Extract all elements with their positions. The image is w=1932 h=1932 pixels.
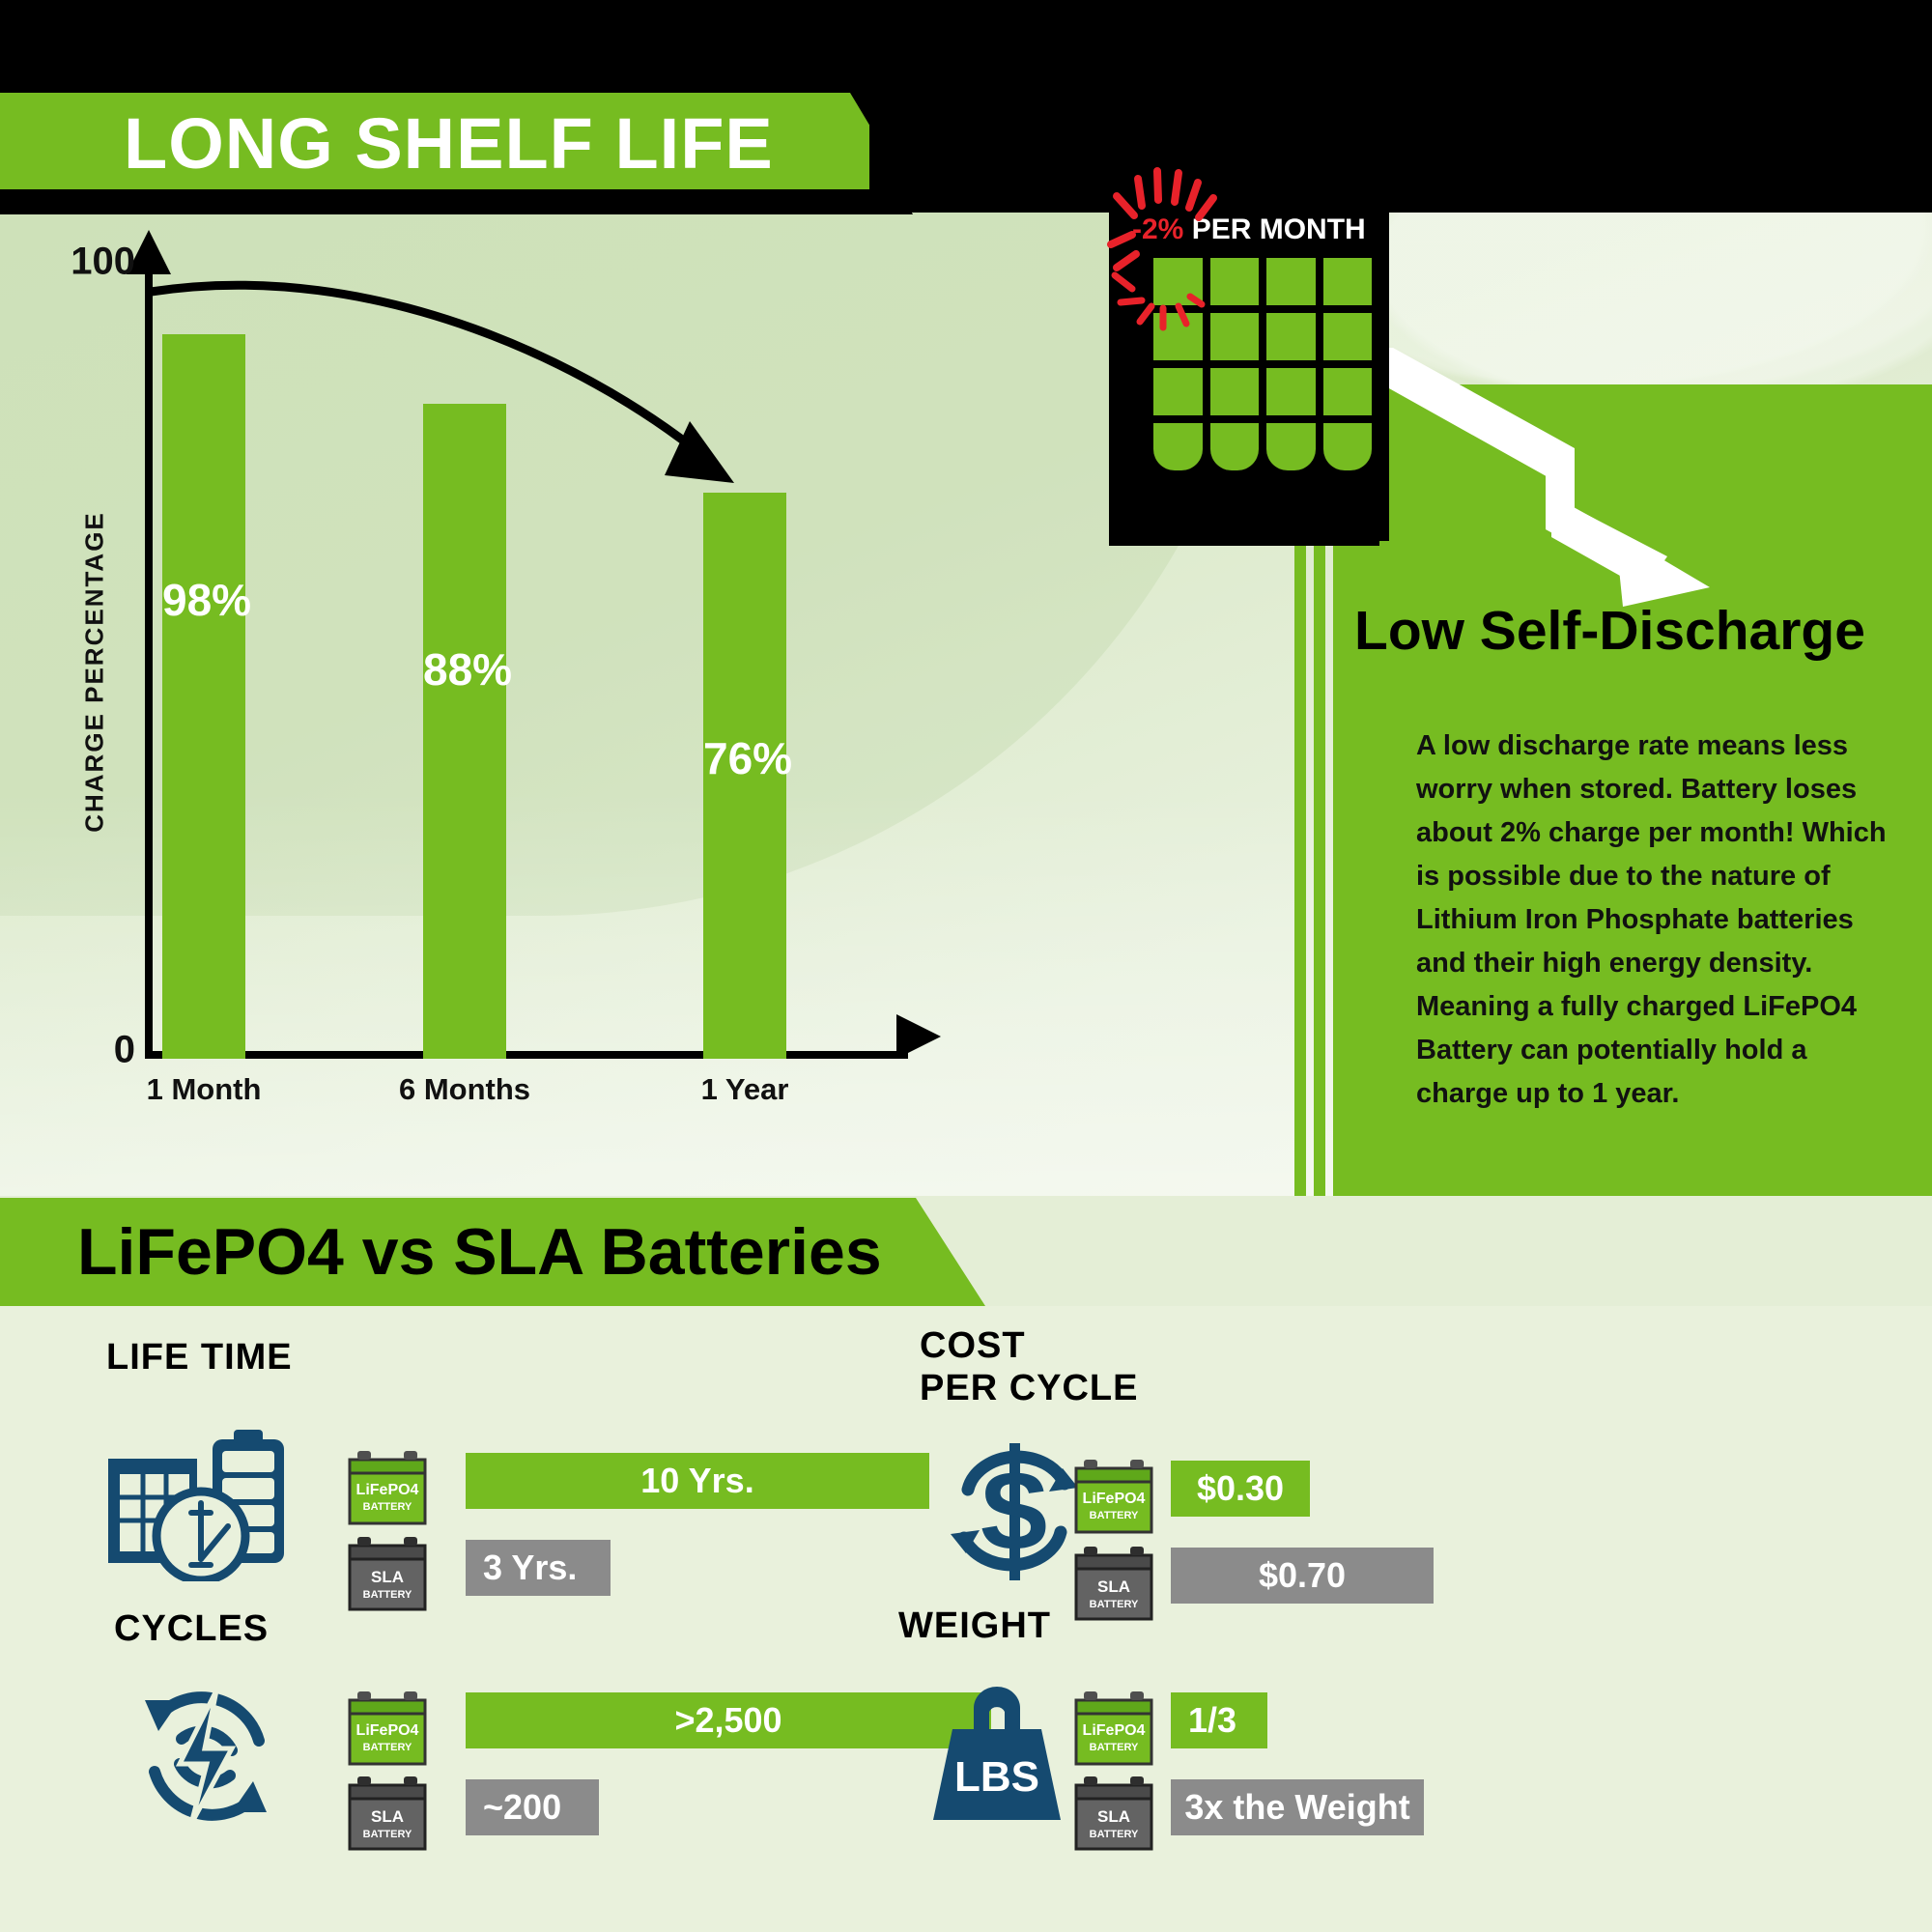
bar-value-1-year: 76% xyxy=(703,732,786,784)
svg-text:LBS: LBS xyxy=(954,1753,1039,1801)
bar-weight-lifepo4: 1/3 xyxy=(1171,1692,1267,1748)
x-tick-6-months: 6 Months xyxy=(373,1072,556,1107)
calendar-clock-battery-icon xyxy=(104,1412,307,1581)
comparison-life-time: LIFE TIME xyxy=(0,1306,966,1615)
header-banner: LONG SHELF LIFE xyxy=(0,93,869,189)
white-descending-arrow-icon xyxy=(1333,348,1816,628)
svg-text:BATTERY: BATTERY xyxy=(1090,1599,1139,1610)
infographic-root: LONG SHELF LIFE 100 0 CHARGE PERCENTAGE … xyxy=(0,0,1932,1932)
x-tick-1-year: 1 Year xyxy=(653,1072,837,1107)
y-axis-title: CHARGE PERCENTAGE xyxy=(80,498,110,846)
bar-life-time-lifepo4: 10 Yrs. xyxy=(466,1453,929,1509)
svg-text:SLA: SLA xyxy=(371,1568,404,1586)
sla-battery-icon: SLA BATTERY xyxy=(1070,1540,1157,1625)
svg-text:BATTERY: BATTERY xyxy=(363,1589,412,1601)
bar-value-6-months: 88% xyxy=(423,643,506,696)
svg-text:SLA: SLA xyxy=(1097,1577,1130,1596)
x-tick-1-month: 1 Month xyxy=(112,1072,296,1107)
y-tick-100: 100 xyxy=(58,241,135,284)
svg-text:BATTERY: BATTERY xyxy=(1090,1510,1139,1521)
lifepo4-battery-icon: LiFePO4 BATTERY xyxy=(1070,1453,1157,1538)
bar-life-time-sla: 3 Yrs. xyxy=(466,1540,611,1596)
panel-body-text: A low discharge rate means less worry wh… xyxy=(1416,724,1899,1115)
y-axis-line xyxy=(145,263,153,1057)
bar-1-year: 76% xyxy=(703,493,786,1059)
bar-6-months: 88% xyxy=(423,404,506,1059)
comparison-section-title: LiFePO4 vs SLA Batteries xyxy=(77,1206,882,1298)
page-title: LONG SHELF LIFE xyxy=(124,99,774,189)
svg-text:LiFePO4: LiFePO4 xyxy=(356,1482,419,1498)
shelf-life-bar-chart: 100 0 CHARGE PERCENTAGE 98% 88% 76% 1 Mo… xyxy=(58,241,1082,1111)
y-tick-0: 0 xyxy=(58,1029,135,1072)
svg-text:LiFePO4: LiFePO4 xyxy=(356,1722,419,1739)
svg-text:BATTERY: BATTERY xyxy=(363,1501,412,1513)
lifepo4-battery-icon: LiFePO4 BATTERY xyxy=(1070,1685,1157,1770)
sla-battery-icon: SLA BATTERY xyxy=(344,1770,431,1855)
svg-text:BATTERY: BATTERY xyxy=(1090,1742,1139,1753)
svg-text:LiFePO4: LiFePO4 xyxy=(1083,1722,1146,1739)
panel-title: Low Self-Discharge xyxy=(1354,599,1932,663)
top-black-bar xyxy=(0,0,1932,93)
comparison-weight: WEIGHT LBS LiFePO4 BATTERY SLA B xyxy=(966,1615,1932,1924)
weight-lbs-icon: LBS xyxy=(908,1673,1092,1842)
svg-text:SLA: SLA xyxy=(1097,1807,1130,1826)
sla-battery-icon: SLA BATTERY xyxy=(1070,1770,1157,1855)
svg-text:BATTERY: BATTERY xyxy=(1090,1829,1139,1840)
bar-cost-lifepo4: $0.30 xyxy=(1171,1461,1310,1517)
svg-text:LiFePO4: LiFePO4 xyxy=(1083,1491,1146,1507)
sla-battery-icon: SLA BATTERY xyxy=(344,1530,431,1615)
comparison-cycles: CYCLES LiFePO4 BATTERY xyxy=(0,1615,966,1924)
svg-text:BATTERY: BATTERY xyxy=(363,1742,412,1753)
comparison-title-cost-per-cycle: COST PER CYCLE xyxy=(920,1325,1138,1409)
lifepo4-battery-icon: LiFePO4 BATTERY xyxy=(344,1444,431,1529)
comparison-cost-per-cycle: COST PER CYCLE S LiFePO4 BATTERY xyxy=(966,1306,1932,1615)
connector-line-right xyxy=(1314,541,1325,1196)
svg-text:BATTERY: BATTERY xyxy=(363,1829,412,1840)
bar-value-1-month: 98% xyxy=(162,574,245,626)
comparison-title-weight: WEIGHT xyxy=(898,1605,1051,1648)
recycle-bolt-icon xyxy=(116,1671,295,1840)
header-black-tail xyxy=(0,189,927,214)
comparison-section: LIFE TIME xyxy=(0,1306,1932,1932)
lifepo4-battery-icon: LiFePO4 BATTERY xyxy=(344,1685,431,1770)
connector-line-left xyxy=(1294,541,1306,1196)
x-axis-line xyxy=(145,1051,908,1059)
svg-text:SLA: SLA xyxy=(371,1807,404,1826)
comparison-section-banner: LiFePO4 vs SLA Batteries xyxy=(0,1198,985,1306)
comparison-title-cycles: CYCLES xyxy=(114,1608,269,1651)
comparison-title-life-time: LIFE TIME xyxy=(106,1337,293,1379)
calendar-discharge-icon: -2% PER MONTH xyxy=(1109,208,1399,546)
x-axis-arrowhead-icon xyxy=(896,1014,941,1059)
bar-cost-sla: $0.70 xyxy=(1171,1548,1434,1604)
bar-weight-sla: 3x the Weight xyxy=(1171,1779,1424,1835)
bar-1-month: 98% xyxy=(162,334,245,1059)
red-sparkle-small-icon xyxy=(1097,242,1242,378)
bar-cycles-sla: ~200 xyxy=(466,1779,599,1835)
svg-text:S: S xyxy=(979,1452,1049,1571)
